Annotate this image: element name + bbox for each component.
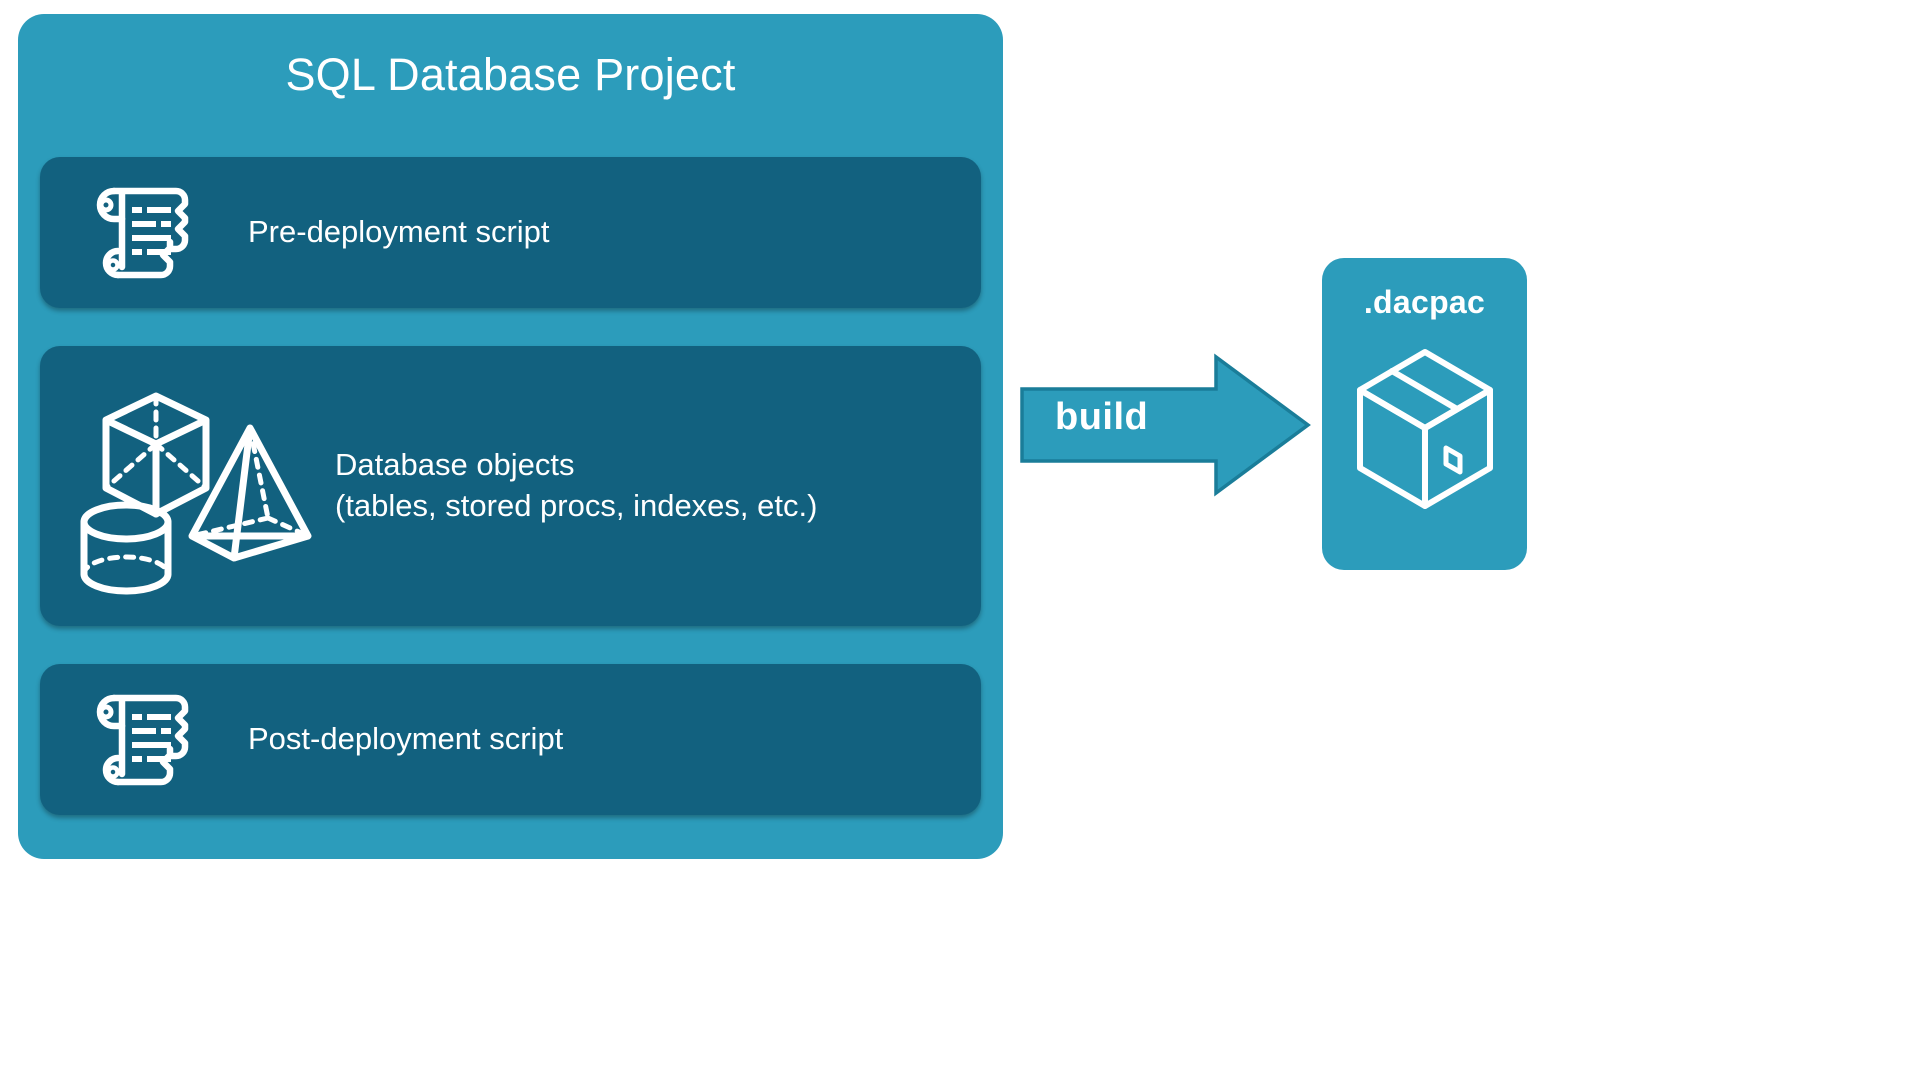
page-title: SQL Database Project xyxy=(18,50,1003,100)
sql-database-project-container: SQL Database Project xyxy=(18,14,1003,859)
cylinder-icon xyxy=(84,505,168,591)
database-objects-icon-group xyxy=(78,368,318,598)
panel-label-post-deployment: Post-deployment script xyxy=(248,664,563,815)
dacpac-output-card[interactable]: .dacpac xyxy=(1322,258,1527,570)
cube-icon xyxy=(106,396,206,514)
panel-post-deployment[interactable]: Post-deployment script xyxy=(40,664,981,815)
dacpac-label: .dacpac xyxy=(1322,284,1527,321)
panel-pre-deployment[interactable]: Pre-deployment script xyxy=(40,157,981,308)
scroll-icon xyxy=(84,686,194,794)
package-box-icon xyxy=(1350,344,1500,544)
diagram-canvas: SQL Database Project xyxy=(0,0,1540,875)
panel-database-objects[interactable]: Database objects (tables, stored procs, … xyxy=(40,346,981,626)
panel-label-pre-deployment: Pre-deployment script xyxy=(248,157,550,308)
scroll-icon xyxy=(84,179,194,287)
panel-label-database-objects: Database objects (tables, stored procs, … xyxy=(335,346,817,626)
build-arrow-label: build xyxy=(1055,396,1255,439)
